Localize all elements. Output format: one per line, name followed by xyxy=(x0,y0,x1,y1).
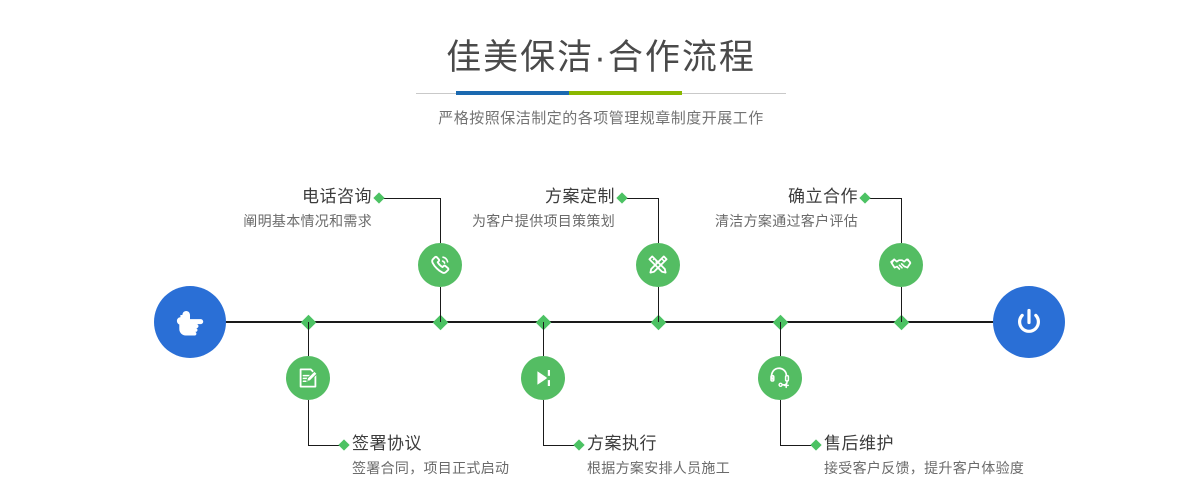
label-title-establish-cooperation: 确立合作 xyxy=(598,186,858,208)
support-agent-icon xyxy=(767,365,793,391)
handshake-icon xyxy=(888,252,914,278)
document-edit-icon xyxy=(295,365,321,391)
page-subtitle: 严格按照保洁制定的各项管理规章制度开展工作 xyxy=(0,99,1202,130)
cooperation-process-infographic: 佳美保洁·合作流程 严格按照保洁制定的各项管理规章制度开展工作 xyxy=(0,0,1202,502)
label-establish-cooperation: 确立合作 清洁方案通过客户评估 xyxy=(598,186,858,231)
page-title: 佳美保洁·合作流程 xyxy=(0,0,1202,80)
power-button-icon xyxy=(1009,302,1049,342)
pencil-ruler-icon xyxy=(645,252,671,278)
stem-after-sales xyxy=(780,322,781,356)
timeline-start-node xyxy=(154,286,226,358)
step-node-plan-customize xyxy=(636,243,680,287)
stem-sign-agreement xyxy=(308,322,309,356)
label-phone-consult: 电话咨询 阐明基本情况和需求 xyxy=(110,186,372,231)
label-subtitle-plan-execute: 根据方案安排人员施工 xyxy=(587,458,847,478)
leader-v-after-sales xyxy=(780,400,781,445)
label-title-phone-consult: 电话咨询 xyxy=(110,186,372,208)
label-title-after-sales: 售后维护 xyxy=(824,433,1124,455)
label-title-plan-execute: 方案执行 xyxy=(587,433,847,455)
header: 佳美保洁·合作流程 严格按照保洁制定的各项管理规章制度开展工作 xyxy=(0,0,1202,130)
step-node-phone-consult xyxy=(418,243,462,287)
divider-green-segment xyxy=(569,91,682,95)
divider-blue-segment xyxy=(456,91,569,95)
step-node-after-sales xyxy=(758,356,802,400)
step-node-sign-agreement xyxy=(286,356,330,400)
stem-phone-consult xyxy=(440,287,441,322)
timeline-axis xyxy=(155,321,1047,323)
step-node-establish-cooperation xyxy=(879,243,923,287)
timeline-end-node xyxy=(993,286,1065,358)
step-node-plan-execute xyxy=(521,356,565,400)
leader-v-sign-agreement xyxy=(308,400,309,445)
leader-h-establish-cooperation xyxy=(866,198,901,199)
label-subtitle-sign-agreement: 签署合同，项目正式启动 xyxy=(352,458,612,478)
label-after-sales: 售后维护 接受客户反馈，提升客户体验度 xyxy=(824,433,1124,478)
label-sign-agreement: 签署协议 签署合同，项目正式启动 xyxy=(352,433,612,478)
stem-plan-customize xyxy=(658,287,659,322)
label-subtitle-phone-consult: 阐明基本情况和需求 xyxy=(110,211,372,231)
stem-establish-cooperation xyxy=(901,287,902,322)
stem-plan-execute xyxy=(543,322,544,356)
label-subtitle-after-sales: 接受客户反馈，提升客户体验度 xyxy=(824,458,1124,478)
label-title-plan-customize: 方案定制 xyxy=(355,186,615,208)
title-divider xyxy=(416,89,786,99)
leader-v-plan-execute xyxy=(543,400,544,445)
label-subtitle-establish-cooperation: 清洁方案通过客户评估 xyxy=(598,211,858,231)
label-subtitle-plan-customize: 为客户提供项目策策划 xyxy=(355,211,615,231)
leader-marker-sign-agreement xyxy=(338,439,349,450)
phone-call-icon xyxy=(427,252,453,278)
label-plan-execute: 方案执行 根据方案安排人员施工 xyxy=(587,433,847,478)
play-skip-icon xyxy=(530,365,556,391)
leader-marker-establish-cooperation xyxy=(859,192,870,203)
pointing-hand-icon xyxy=(170,302,210,342)
leader-v-establish-cooperation xyxy=(901,198,902,243)
label-plan-customize: 方案定制 为客户提供项目策策划 xyxy=(355,186,615,231)
